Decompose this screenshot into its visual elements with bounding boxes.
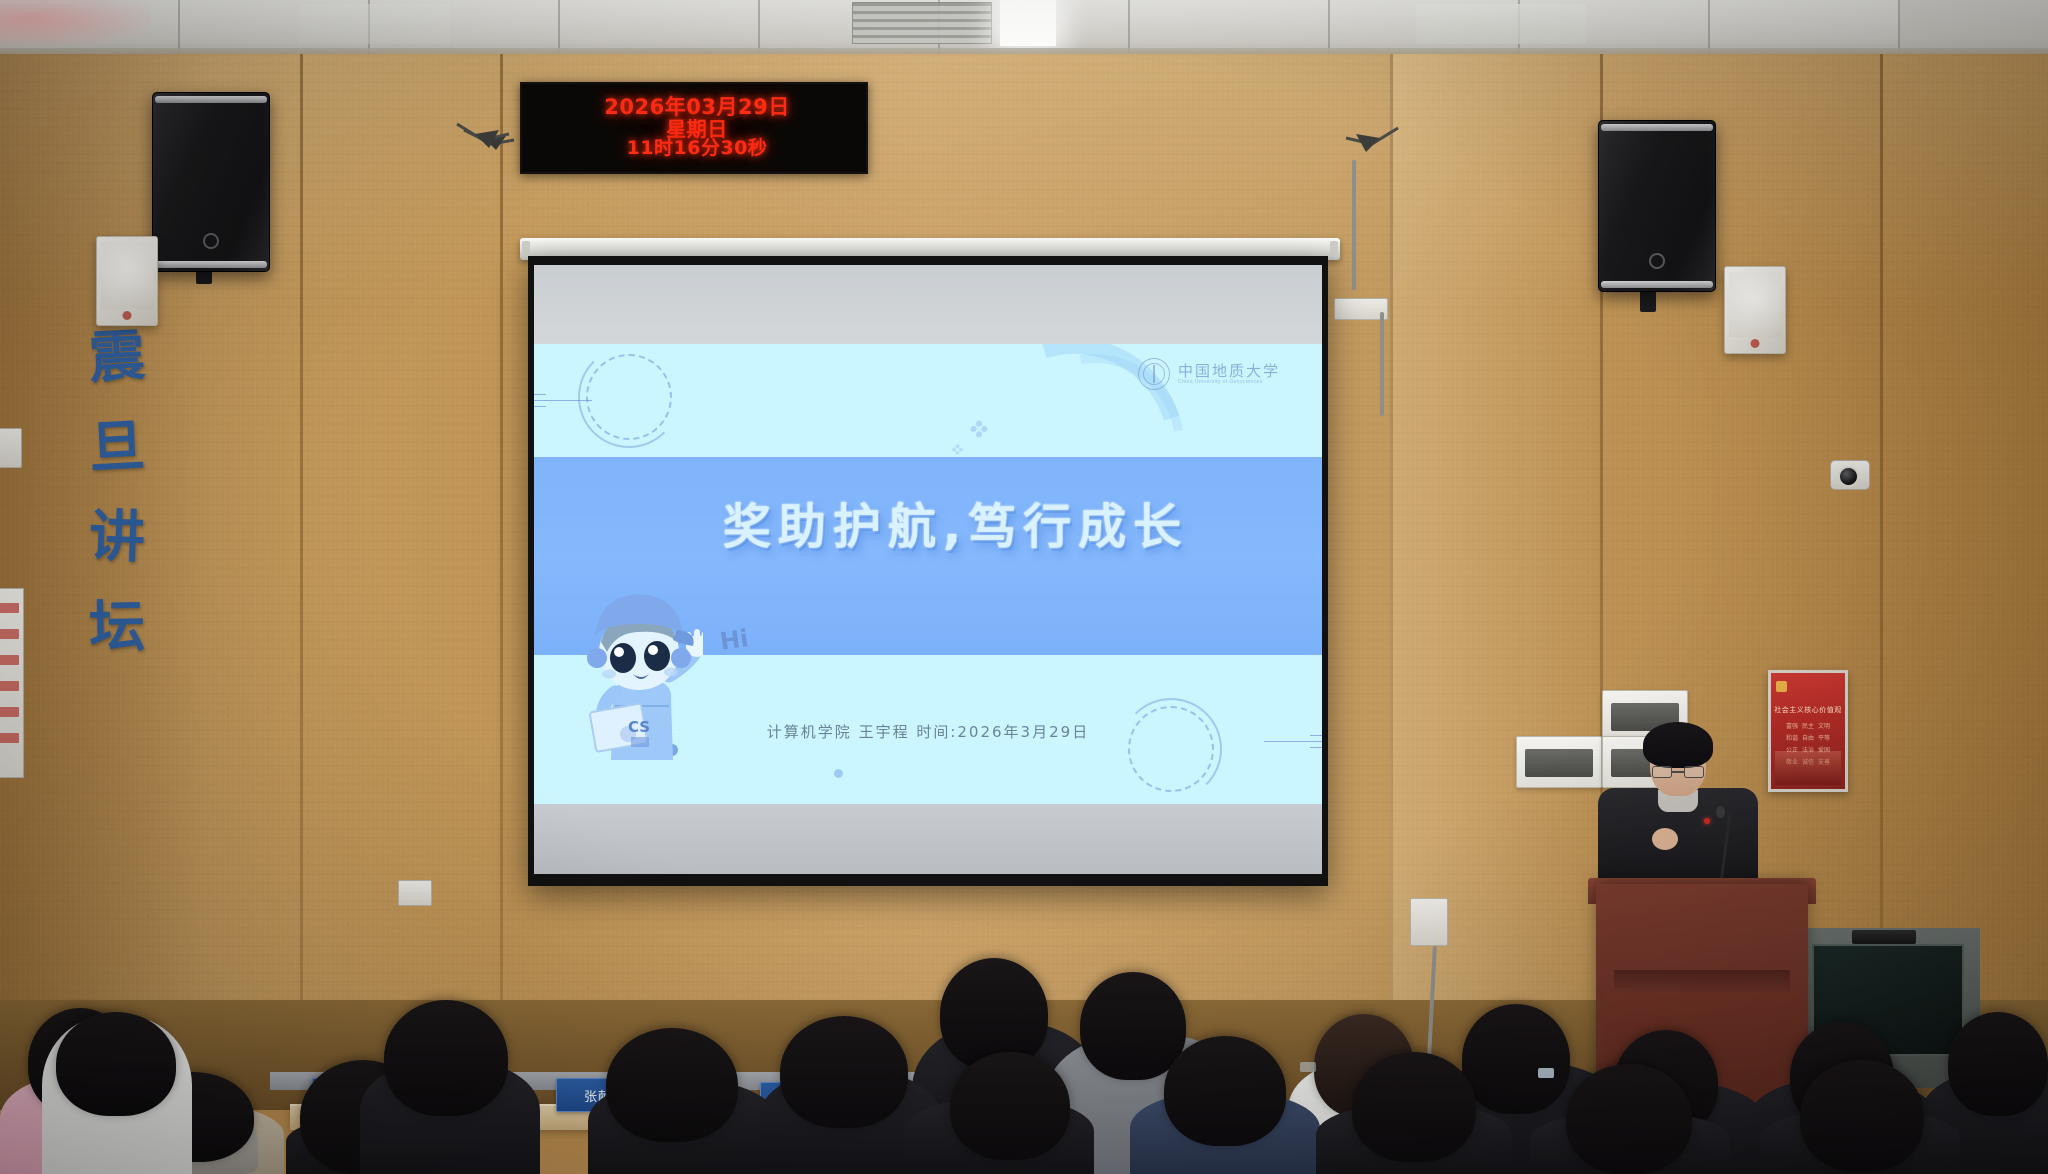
notice-line <box>0 681 19 691</box>
camera-lens-icon <box>1838 466 1859 487</box>
presenter-hair <box>1643 722 1713 768</box>
led-time-line: 11时16分30秒 <box>627 139 768 159</box>
audience-head <box>1948 1012 2048 1116</box>
glasses-lens-left <box>1652 766 1672 778</box>
speaker-indicator-icon <box>1751 339 1760 348</box>
calligraphy-char: 震 <box>88 329 147 388</box>
audience-head <box>1080 972 1186 1080</box>
glasses-bridge <box>1672 771 1684 773</box>
notice-line <box>0 655 19 665</box>
microphone-indicator-icon <box>1704 818 1710 824</box>
decor-arrow-icon <box>534 400 592 401</box>
university-name-en: China University of Geosciences <box>1178 380 1280 386</box>
poster-word: 民主 <box>1802 721 1814 730</box>
socialist-core-values-poster: 社会主义核心价值观 富强 民主 文明 和谐 自由 平等 公正 法治 爱国 敬业 … <box>1768 670 1848 792</box>
ceiling-light <box>1416 4 1586 44</box>
poster-header <box>1776 678 1840 694</box>
calligraphy-char: 讲 <box>88 509 146 567</box>
slide-subtitle: 计算机学院 王宇程 时间:2026年3月29日 <box>534 721 1322 742</box>
mascot-character: CS Hi <box>573 580 703 795</box>
wall-seam <box>1880 54 1883 1064</box>
wall-fixture <box>0 428 22 468</box>
presentation-slide: 中国地质大学 China University of Geosciences <box>534 344 1322 804</box>
wall-outlet-plate <box>1410 898 1448 946</box>
wall-cable <box>1352 160 1356 290</box>
mascot-greeting-text: Hi <box>719 624 751 656</box>
wall-seam <box>300 54 303 1064</box>
poster-word: 富强 <box>1786 721 1798 730</box>
notice-line <box>0 733 19 743</box>
ceiling-light <box>300 4 450 44</box>
poster-title: 社会主义核心价值观 <box>1771 705 1845 715</box>
wall-seam <box>500 54 503 1064</box>
lecture-hall-photo: 震 旦 讲 坛 2026年03月29日 星期日 11时16分30秒 <box>0 0 2048 1174</box>
wall-speaker-black-left <box>152 92 270 272</box>
audience-head <box>1566 1064 1692 1174</box>
decor-flower-icon <box>970 420 988 438</box>
screen-blank-top-band <box>534 265 1322 344</box>
projection-screen-surface: 中国地质大学 China University of Geosciences <box>534 265 1322 874</box>
speaker-mesh <box>1729 272 1781 337</box>
speaker-logo-icon <box>1649 253 1665 269</box>
wall-speaker-white-left <box>96 236 158 326</box>
wall-speaker-black-right <box>1598 120 1716 292</box>
poster-word: 自由 <box>1802 733 1814 742</box>
audience-head <box>56 1012 176 1116</box>
audience-head <box>1352 1052 1476 1162</box>
led-clock-display: 2026年03月29日 星期日 11时16分30秒 <box>520 82 868 174</box>
distribution-box-window <box>1525 749 1593 777</box>
university-name-cn: 中国地质大学 <box>1178 363 1280 380</box>
roller-end-cap <box>522 241 530 257</box>
poster-emblem-icon <box>1776 681 1787 692</box>
hvac-vent-icon <box>852 2 992 44</box>
decor-flower-icon <box>952 442 963 453</box>
roller-end-cap <box>1330 241 1338 257</box>
decor-arc-circle <box>578 346 680 448</box>
poster-word: 平等 <box>1818 733 1830 742</box>
podium-control-tablet <box>1852 930 1916 944</box>
electrical-distribution-box <box>1516 736 1602 788</box>
projection-screen: 中国地质大学 China University of Geosciences <box>528 256 1328 886</box>
speaker-logo-icon <box>203 233 219 249</box>
university-seal-icon <box>1138 358 1170 390</box>
poster-word: 文明 <box>1818 721 1830 730</box>
presenter-glasses-icon <box>1652 766 1704 778</box>
poster-word: 和谐 <box>1786 733 1798 742</box>
microphone-head-icon <box>1716 806 1725 818</box>
audience-phone-screen <box>1538 1068 1554 1078</box>
audience-head <box>384 1000 508 1116</box>
screen-blank-bottom-band <box>534 804 1322 874</box>
presenter-hand <box>1652 828 1678 850</box>
calligraphy-char: 坛 <box>89 600 146 657</box>
audience-head <box>1800 1060 1924 1172</box>
poster-illustration <box>1775 751 1841 785</box>
wall-speaker-white-right <box>1724 266 1786 354</box>
decor-arc-circle <box>1120 698 1222 800</box>
audience-head <box>780 1016 908 1128</box>
university-logo-text: 中国地质大学 China University of Geosciences <box>1178 363 1280 386</box>
slide-title: 奖助护航,笃行成长 <box>534 487 1322 557</box>
glasses-lens-right <box>1684 766 1704 778</box>
wall-cable <box>1380 312 1384 416</box>
audience-head <box>950 1052 1070 1160</box>
notice-line <box>0 629 19 639</box>
notice-line <box>0 603 19 613</box>
speaker-indicator-icon <box>123 311 132 320</box>
audience-head <box>1462 1004 1570 1114</box>
wall-outlet-plate <box>398 880 432 906</box>
audience-head <box>1164 1036 1286 1146</box>
projector-mount-bracket-right <box>1340 124 1400 165</box>
wall-calligraphy: 震 旦 讲 坛 <box>62 330 172 656</box>
ceiling-light <box>1000 0 1056 46</box>
led-date-line: 2026年03月29日 <box>604 97 789 119</box>
calligraphy-char: 旦 <box>88 419 147 478</box>
speaker-mesh <box>101 242 153 309</box>
decor-dot <box>834 769 843 778</box>
university-logo: 中国地质大学 China University of Geosciences <box>1138 358 1280 390</box>
audience-head <box>606 1028 738 1142</box>
podium-mid-trim <box>1614 970 1790 992</box>
notice-line <box>0 707 19 717</box>
projector-mount-bracket <box>455 120 515 161</box>
decor-dot <box>620 726 636 742</box>
wall-notice-board <box>0 588 24 778</box>
audience-phone-screen <box>1300 1062 1316 1072</box>
